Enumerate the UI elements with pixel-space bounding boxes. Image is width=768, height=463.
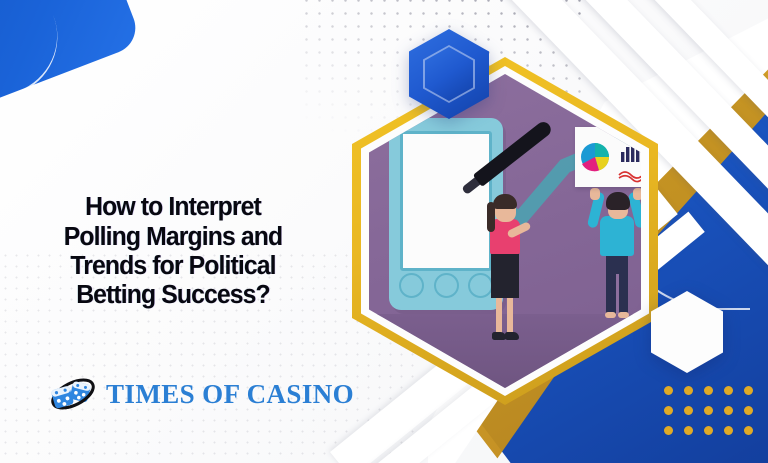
man-foot-right (618, 312, 629, 318)
man-leg-gap (616, 274, 619, 314)
phone-button (399, 273, 424, 298)
pie-chart (581, 143, 609, 171)
headline-line-2: Polling Margins and (46, 223, 300, 252)
logo-text: TIMES OF CASINO (106, 379, 354, 410)
woman-hair (493, 194, 517, 209)
white-hexagon-badge (651, 291, 723, 373)
white-hexagon-fill (651, 291, 723, 373)
gold-dot (664, 426, 673, 435)
gold-dot (724, 386, 733, 395)
gold-dot (724, 426, 733, 435)
woman-leg-right (507, 296, 513, 334)
gold-dot (744, 406, 753, 415)
headline-line-1: How to Interpret (46, 193, 300, 222)
squiggle-line (619, 171, 641, 182)
man-shirt (600, 216, 634, 256)
blue-hexagon-badge (409, 29, 489, 119)
gold-dot (664, 386, 673, 395)
gold-dot-grid (664, 386, 753, 435)
hexagon-illustration (352, 57, 658, 405)
woman-leg-left (496, 296, 502, 334)
gold-dot (684, 386, 693, 395)
page-title: How to Interpret Polling Margins and Tre… (46, 193, 300, 311)
site-logo[interactable]: TIMES OF CASINO (45, 371, 354, 417)
gold-dot (724, 406, 733, 415)
headline-line-3: Trends for Political (46, 252, 300, 281)
man-hand-right (633, 188, 641, 200)
article-banner: How to Interpret Polling Margins and Tre… (0, 0, 768, 463)
headline-line-4: Betting Success? (46, 281, 300, 310)
gold-dot (704, 426, 713, 435)
gold-dot (704, 406, 713, 415)
gold-dot (744, 386, 753, 395)
woman-with-pen (477, 194, 533, 344)
gold-dot (684, 426, 693, 435)
man-foot-left (605, 312, 616, 318)
woman-shoe-left (492, 332, 506, 340)
gold-dot (664, 406, 673, 415)
phone-button (434, 273, 459, 298)
woman-skirt (491, 250, 519, 298)
man-hair (606, 192, 630, 210)
gold-dot (704, 386, 713, 395)
woman-shoe-right (505, 332, 519, 340)
man-hand-left (590, 188, 600, 200)
gold-dot (684, 406, 693, 415)
dice-orbit-icon (45, 371, 101, 417)
gold-dot (744, 426, 753, 435)
